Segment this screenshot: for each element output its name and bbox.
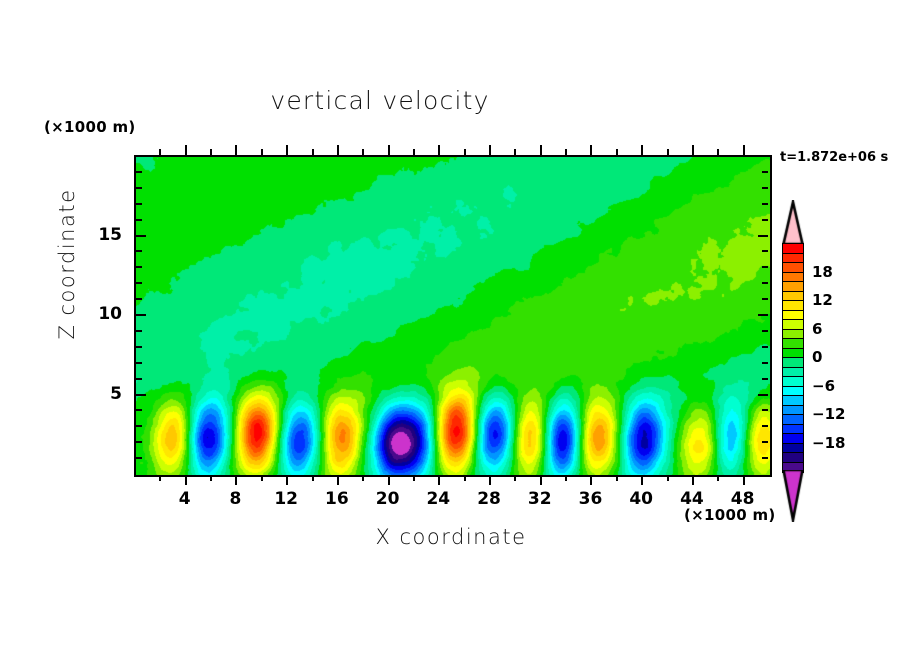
y-axis-title: Z coordinate	[55, 149, 79, 379]
tick-mark	[641, 145, 643, 155]
colorbar-tick-label: 0	[812, 348, 822, 366]
chart-title: vertical velocity	[0, 86, 760, 115]
tick-mark	[540, 475, 542, 485]
tick-mark	[762, 171, 768, 173]
tick-mark	[312, 475, 314, 481]
tick-mark	[136, 314, 146, 316]
x-tick-label: 12	[266, 489, 306, 509]
contour-field	[136, 157, 770, 475]
tick-mark	[743, 145, 745, 155]
tick-mark	[565, 475, 567, 481]
x-tick-label: 4	[165, 489, 205, 509]
tick-mark	[590, 475, 592, 485]
tick-mark	[286, 145, 288, 155]
y-tick-label: 10	[82, 304, 122, 324]
colorbar-under-arrow	[782, 470, 804, 522]
z-axis-unit-label: (×1000 m)	[44, 118, 136, 136]
tick-mark	[762, 425, 768, 427]
tick-mark	[762, 298, 768, 300]
tick-mark	[762, 250, 768, 252]
x-tick-label: 16	[317, 489, 357, 509]
tick-mark	[413, 475, 415, 481]
tick-mark	[692, 475, 694, 485]
plot-area	[134, 155, 772, 477]
tick-mark	[762, 441, 768, 443]
y-tick-label: 15	[82, 225, 122, 245]
tick-mark	[136, 298, 142, 300]
tick-mark	[362, 475, 364, 481]
tick-mark	[514, 475, 516, 481]
tick-mark	[762, 187, 768, 189]
tick-mark	[337, 145, 339, 155]
x-tick-label: 36	[570, 489, 610, 509]
tick-mark	[762, 457, 768, 459]
tick-mark	[136, 171, 142, 173]
tick-mark	[692, 145, 694, 155]
x-tick-label: 20	[368, 489, 408, 509]
tick-mark	[136, 219, 142, 221]
tick-mark	[540, 145, 542, 155]
tick-mark	[362, 149, 364, 155]
tick-mark	[136, 346, 142, 348]
x-tick-label: 28	[469, 489, 509, 509]
tick-mark	[489, 145, 491, 155]
tick-mark	[762, 266, 768, 268]
y-tick-label: 5	[82, 384, 122, 404]
tick-mark	[489, 475, 491, 485]
tick-mark	[286, 475, 288, 485]
colorbar-tick-label: 12	[812, 291, 833, 309]
tick-mark	[210, 475, 212, 481]
tick-mark	[616, 475, 618, 481]
tick-mark	[337, 475, 339, 485]
tick-mark	[762, 203, 768, 205]
tick-mark	[616, 149, 618, 155]
tick-mark	[185, 145, 187, 155]
tick-mark	[464, 149, 466, 155]
tick-mark	[261, 149, 263, 155]
tick-mark	[210, 149, 212, 155]
tick-mark	[464, 475, 466, 481]
timestamp-label: t=1.872e+06 s	[780, 150, 888, 165]
tick-mark	[136, 235, 146, 237]
tick-mark	[136, 330, 142, 332]
tick-mark	[758, 235, 768, 237]
tick-mark	[717, 149, 719, 155]
tick-mark	[136, 409, 142, 411]
tick-mark	[159, 149, 161, 155]
x-tick-label: 8	[215, 489, 255, 509]
tick-mark	[565, 149, 567, 155]
tick-mark	[388, 475, 390, 485]
tick-mark	[136, 362, 142, 364]
tick-mark	[136, 378, 142, 380]
colorbar-over-arrow	[782, 200, 804, 244]
tick-mark	[743, 475, 745, 485]
tick-mark	[235, 145, 237, 155]
tick-mark	[762, 362, 768, 364]
colorbar-tick-label: −12	[812, 405, 845, 423]
tick-mark	[136, 203, 142, 205]
tick-mark	[667, 475, 669, 481]
x-tick-label: 44	[672, 489, 712, 509]
tick-mark	[136, 394, 146, 396]
tick-mark	[438, 145, 440, 155]
tick-mark	[762, 219, 768, 221]
tick-mark	[136, 250, 142, 252]
x-axis-title: X coordinate	[271, 525, 631, 549]
tick-mark	[590, 145, 592, 155]
tick-mark	[235, 475, 237, 485]
tick-mark	[388, 145, 390, 155]
tick-mark	[136, 266, 142, 268]
tick-mark	[758, 314, 768, 316]
figure-canvas: vertical velocity (×1000 m) (×1000 m) t=…	[0, 0, 904, 654]
tick-mark	[159, 475, 161, 481]
colorbar-tick-label: 18	[812, 263, 833, 281]
tick-mark	[762, 378, 768, 380]
tick-mark	[438, 475, 440, 485]
tick-mark	[185, 475, 187, 485]
tick-mark	[762, 346, 768, 348]
x-tick-label: 32	[520, 489, 560, 509]
tick-mark	[136, 425, 142, 427]
colorbar-tick-label: −6	[812, 377, 835, 395]
x-tick-label: 24	[418, 489, 458, 509]
tick-mark	[667, 149, 669, 155]
tick-mark	[136, 282, 142, 284]
tick-mark	[762, 282, 768, 284]
tick-mark	[136, 187, 142, 189]
tick-mark	[762, 330, 768, 332]
tick-mark	[641, 475, 643, 485]
colorbar-tick-label: −18	[812, 434, 845, 452]
colorbar	[782, 243, 804, 471]
tick-mark	[136, 441, 142, 443]
tick-mark	[762, 409, 768, 411]
colorbar-tick-label: 6	[812, 320, 822, 338]
tick-mark	[136, 457, 142, 459]
tick-mark	[758, 394, 768, 396]
x-tick-label: 40	[621, 489, 661, 509]
tick-mark	[312, 149, 314, 155]
x-tick-label: 48	[723, 489, 763, 509]
tick-mark	[717, 475, 719, 481]
tick-mark	[413, 149, 415, 155]
tick-mark	[514, 149, 516, 155]
tick-mark	[261, 475, 263, 481]
